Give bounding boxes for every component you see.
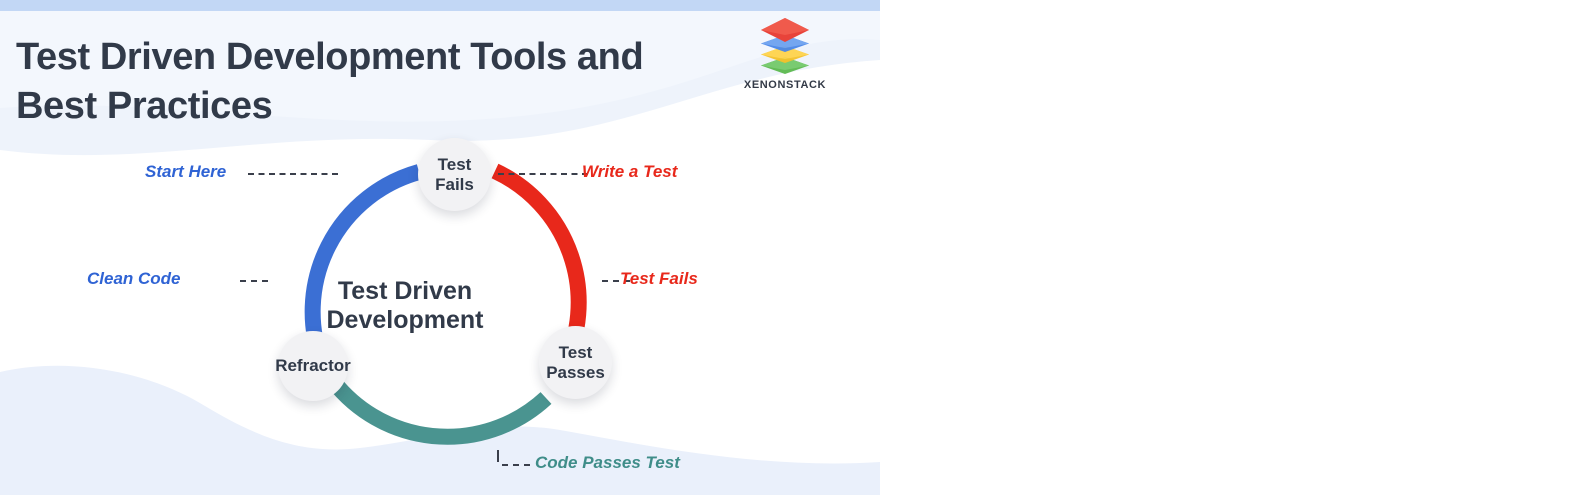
center-caption-line-2: Development — [310, 306, 500, 335]
label-start-here: Start Here — [145, 162, 226, 182]
slide-canvas: Test Driven Development Tools and Best P… — [0, 0, 880, 495]
leader-line-write-a-test — [498, 173, 588, 175]
leader-tick-code-passes — [497, 450, 499, 462]
leader-line-clean-code — [240, 280, 268, 282]
label-test-fails: Test Fails — [620, 269, 698, 289]
page-title-line-1: Test Driven Development Tools and — [16, 33, 676, 82]
node-test-fails-line-2: Fails — [435, 175, 474, 194]
node-test-passes-line-1: Test — [546, 343, 605, 362]
node-test-passes-line-2: Passes — [546, 363, 605, 382]
node-refractor: Refractor — [278, 331, 348, 401]
label-code-passes-test: Code Passes Test — [535, 453, 680, 473]
top-accent-bar — [0, 0, 880, 11]
node-test-fails: Test Fails — [418, 138, 491, 211]
node-refractor-label: Refractor — [275, 356, 351, 375]
leader-line-code-passes — [502, 464, 530, 466]
label-write-a-test: Write a Test — [582, 162, 677, 182]
brand-logo: XENONSTACK — [740, 17, 830, 91]
diagram-center-caption: Test Driven Development — [310, 277, 500, 335]
brand-name: XENONSTACK — [740, 79, 830, 91]
code-passes-test-arc — [338, 387, 546, 437]
page-title-line-2: Best Practices — [16, 82, 676, 131]
node-test-fails-line-1: Test — [435, 155, 474, 174]
leader-line-start-here — [248, 173, 338, 175]
node-test-passes: Test Passes — [539, 326, 612, 399]
label-clean-code: Clean Code — [87, 269, 181, 289]
page-title: Test Driven Development Tools and Best P… — [16, 33, 676, 130]
center-caption-line-1: Test Driven — [310, 277, 500, 306]
tdd-cycle-diagram: Start Here Write a Test Clean Code Test … — [150, 125, 770, 495]
stacked-layers-icon — [754, 17, 816, 75]
